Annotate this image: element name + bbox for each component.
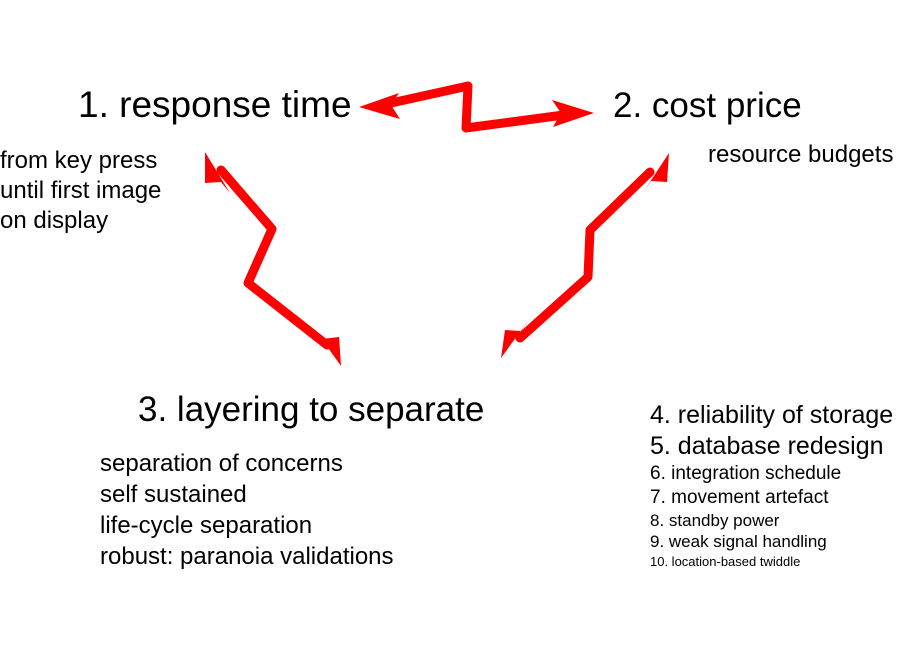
slide-canvas: 1. response time 2. cost price 3. layeri… — [0, 0, 920, 660]
list-item: 7. movement artefact — [650, 486, 893, 510]
note-response-time-line: until first image — [0, 176, 161, 206]
arrow-layering-to-cost — [501, 153, 669, 358]
heading-layering-to-separate: 3. layering to separate — [138, 392, 484, 427]
list-item: 8. standby power — [650, 510, 893, 531]
list-item: 5. database redesign — [650, 431, 893, 462]
note-cost-price: resource budgets — [708, 143, 893, 167]
note-response-time-line: on display — [0, 206, 161, 236]
heading-cost-price: 2. cost price — [613, 88, 802, 123]
note-layering-line: robust: paranoia validations — [100, 541, 394, 572]
note-layering-line: life-cycle separation — [100, 510, 394, 541]
note-layering-line: self sustained — [100, 479, 394, 510]
list-item: 10. location-based twiddle — [650, 553, 893, 570]
list-item: 9. weak signal handling — [650, 531, 893, 553]
note-layering: separation of concerns self sustained li… — [100, 448, 394, 572]
list-item: 4. reliability of storage — [650, 400, 893, 431]
note-response-time-line: from key press — [0, 146, 161, 176]
extra-concerns-list: 4. reliability of storage 5. database re… — [650, 400, 893, 570]
list-item: 6. integration schedule — [650, 462, 893, 486]
arrow-response-to-layering — [205, 152, 341, 366]
heading-response-time: 1. response time — [78, 86, 352, 123]
note-layering-line: separation of concerns — [100, 448, 394, 479]
arrow-response-to-cost — [359, 86, 594, 128]
note-response-time: from key press until first image on disp… — [0, 146, 161, 236]
